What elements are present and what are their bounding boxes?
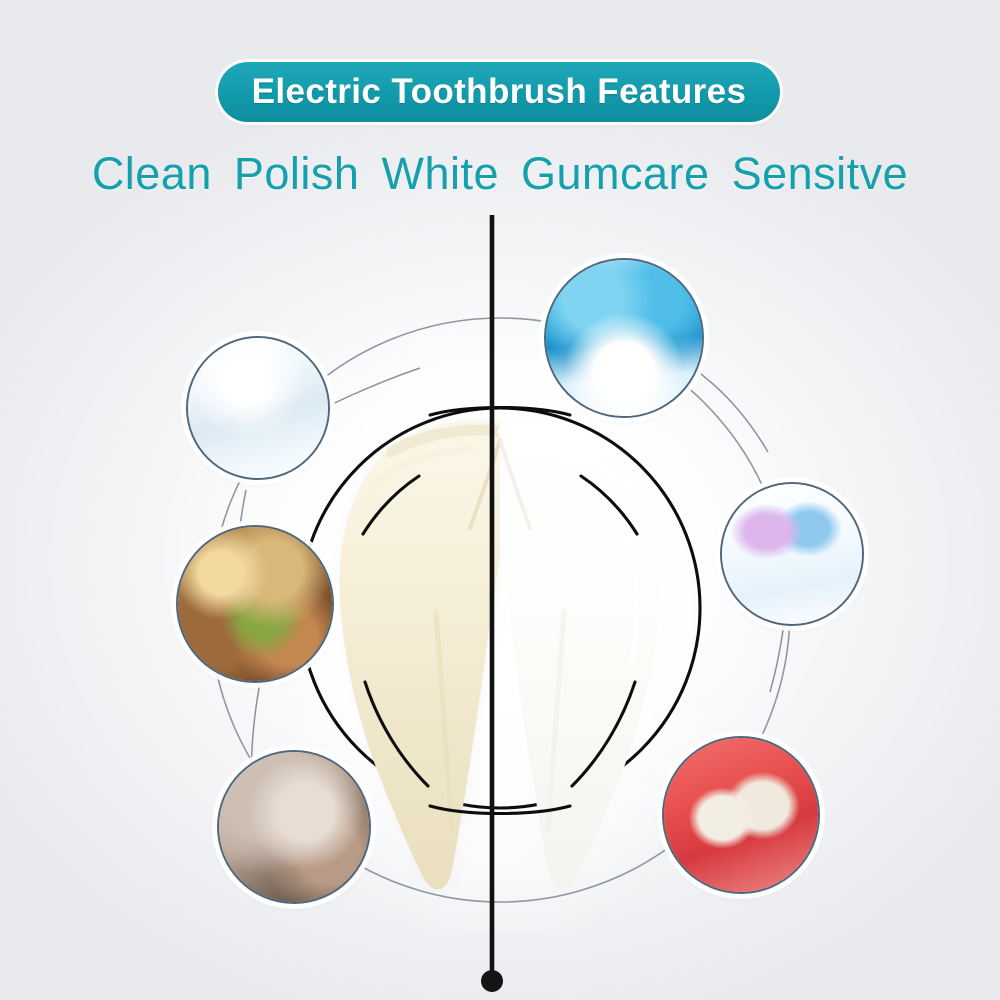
- tooth-right-half: [500, 421, 660, 889]
- bubble-brushes[interactable]: Two colored replacement brush heads: [722, 484, 862, 624]
- bubble-face[interactable]: Man reacting to tooth sensitivity: [219, 752, 369, 902]
- bubble-water[interactable]: Glass of water being poured: [188, 338, 328, 478]
- gums-molars-icon: [664, 738, 818, 892]
- face-pain-icon: [219, 752, 369, 902]
- bubble-food[interactable]: Sandwich and fries on a board: [178, 527, 332, 681]
- feature-poster: Electric Toothbrush Features CleanPolish…: [0, 0, 1000, 1000]
- brush-head-teeth-icon: [546, 260, 702, 416]
- sandwich-icon: [178, 527, 332, 681]
- pointer-dot: [481, 970, 503, 992]
- water-glass-icon: [188, 338, 328, 478]
- brush-heads-icon: [722, 484, 862, 624]
- bubble-brushhead[interactable]: Blue brush bristles cleaning teeth: [546, 260, 702, 416]
- bubble-gums[interactable]: Pink gums with two molars: [664, 738, 818, 892]
